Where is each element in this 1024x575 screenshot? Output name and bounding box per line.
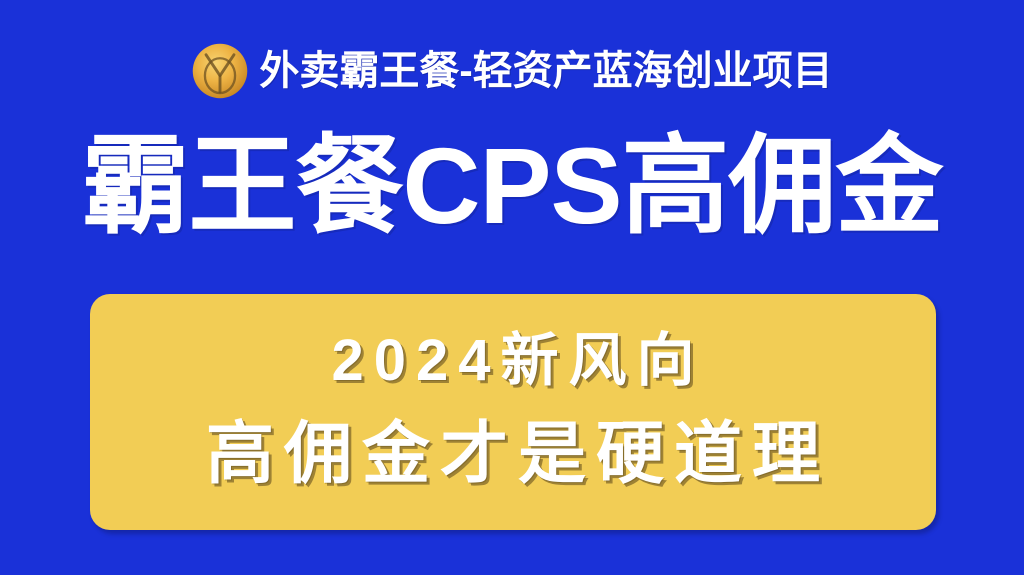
- panel-line-secondary: 高佣金才是硬道理: [196, 420, 830, 488]
- header-subtitle: 外卖霸王餐-轻资产蓝海创业项目: [259, 51, 832, 91]
- poster-canvas: 外卖霸王餐-轻资产蓝海创业项目 霸王餐CPS高佣金 2024新风向 高佣金才是硬…: [0, 0, 1024, 575]
- header-row: 外卖霸王餐-轻资产蓝海创业项目: [0, 38, 1024, 104]
- highlight-panel: 2024新风向 高佣金才是硬道理: [90, 294, 936, 530]
- panel-line-primary: 2024新风向: [321, 332, 704, 390]
- golden-circle-y-logo-icon: [191, 42, 249, 100]
- main-headline: 霸王餐CPS高佣金: [0, 126, 1024, 247]
